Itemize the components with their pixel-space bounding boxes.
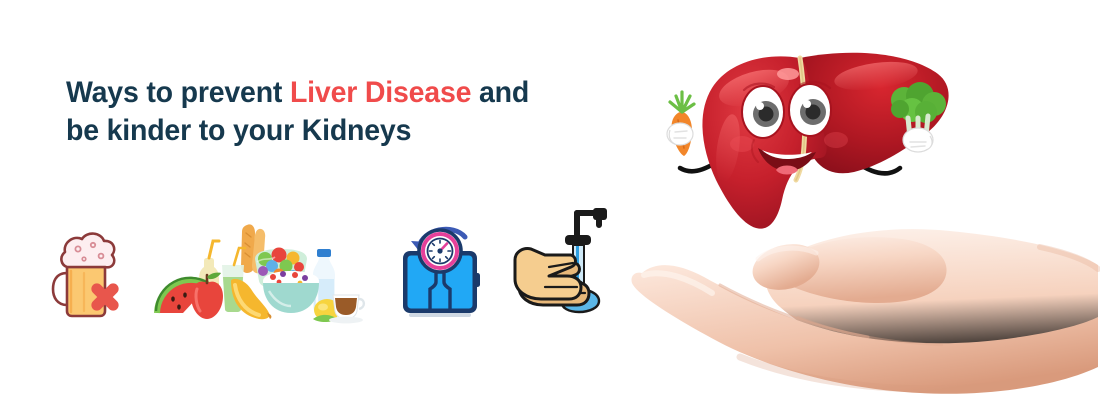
headline-line1-part2: and xyxy=(471,76,529,109)
icon-cell-weight-scale xyxy=(390,211,490,321)
healthy-food-icon xyxy=(155,221,360,321)
open-palm-hand xyxy=(620,207,1100,400)
hand-washing-icon xyxy=(515,205,615,321)
headline-accent-liver-disease: Liver Disease xyxy=(290,76,471,109)
weight-scale-icon xyxy=(397,211,483,321)
icon-cell-healthy-food xyxy=(150,221,365,321)
page-title: Ways to prevent Liver Disease and be kin… xyxy=(66,74,598,150)
liver-illustration xyxy=(610,12,1100,400)
no-alcohol-icon xyxy=(51,225,129,321)
headline-line-2: be kinder to your Kidneys xyxy=(66,112,598,150)
icon-cell-hand-washing xyxy=(510,205,620,321)
liver-health-banner: Ways to prevent Liver Disease and be kin… xyxy=(0,0,1100,400)
icon-cell-no-alcohol xyxy=(40,225,140,321)
prevention-icon-row xyxy=(30,196,640,321)
headline-line1-part1: Ways to prevent xyxy=(66,76,290,109)
carrot-icon xyxy=(667,92,694,156)
headline-line-1: Ways to prevent Liver Disease and xyxy=(66,74,598,112)
